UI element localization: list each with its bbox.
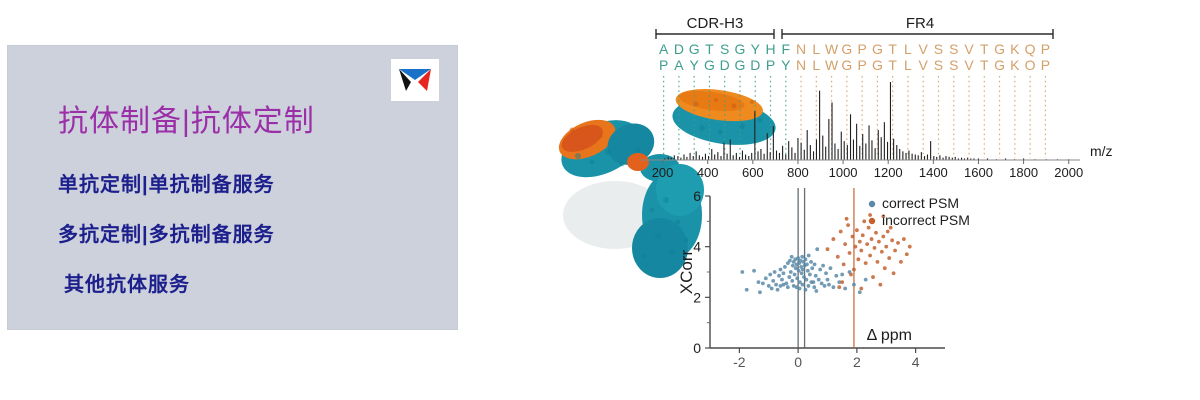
spectrum-xlabel: m/z: [1090, 143, 1113, 159]
spectrum-tick-label: 1000: [829, 165, 858, 180]
promo-link-other-services[interactable]: 其他抗体服务: [64, 268, 190, 297]
sequence-residue-top: P: [1041, 41, 1050, 57]
sequence-residue-top: G: [994, 41, 1005, 57]
scatter-point: [787, 275, 791, 279]
sequence-residue-top: S: [949, 41, 958, 57]
scatter-y-tick-label: 0: [693, 340, 701, 356]
scatter-point: [818, 268, 822, 272]
alignment-region-header: CDR-H3 FR4: [656, 15, 1053, 39]
sequence-residue-bottom: D: [720, 57, 730, 73]
scatter-point: [797, 269, 801, 273]
scatter-point: [804, 257, 808, 261]
spectrum-tick-label: 2000: [1054, 165, 1083, 180]
scatter-point: [861, 233, 865, 237]
scatter-point: [813, 263, 817, 267]
legend-label: correct PSM: [882, 195, 959, 211]
scatter-point: [852, 268, 856, 272]
scatter-point: [870, 237, 874, 241]
scatter-point: [767, 284, 771, 288]
sequence-residue-top: V: [964, 41, 974, 57]
sequence-residue-top: F: [782, 41, 791, 57]
sequence-residue-top: T: [888, 41, 897, 57]
spectrum-tick-label: 800: [787, 165, 809, 180]
scatter-point: [809, 280, 813, 284]
sequence-residue-top: T: [980, 41, 989, 57]
scatter-x-tick-label: 0: [794, 354, 802, 370]
spectrum-tick-label: 600: [742, 165, 764, 180]
legend-marker: [869, 201, 875, 207]
sequence-residue-bottom: W: [825, 57, 839, 73]
scatter-point: [804, 278, 808, 282]
scatter-point: [840, 280, 844, 284]
scatter-point: [795, 276, 799, 280]
region-label-cdr-h3: CDR-H3: [687, 15, 744, 32]
scatter-point: [880, 250, 884, 254]
scatter-point: [791, 264, 795, 268]
scatter-point: [859, 287, 863, 291]
spectrum-tick-label: 200: [652, 165, 674, 180]
scatter-point: [831, 237, 835, 241]
scatter-point: [806, 269, 810, 273]
scatter-point: [886, 230, 890, 234]
sequence-residue-top: D: [674, 41, 684, 57]
scatter-point: [862, 219, 866, 223]
scatter-point: [776, 288, 780, 292]
scatter-point: [752, 269, 756, 273]
sequence-residue-bottom: G: [704, 57, 715, 73]
sequence-residue-bottom: Y: [690, 57, 700, 73]
scatter-point: [824, 271, 828, 275]
scatter-point: [868, 254, 872, 258]
scatter-point: [852, 283, 856, 287]
scatter-point: [826, 247, 830, 251]
sequence-residue-bottom: L: [812, 57, 820, 73]
spectrum-tick-label: 1400: [919, 165, 948, 180]
scatter-point: [908, 245, 912, 249]
scatter-point: [858, 240, 862, 244]
sequence-residue-bottom: G: [841, 57, 852, 73]
promo-link-polyclonal[interactable]: 多抗定制|多抗制备服务: [58, 218, 275, 247]
sequence-residue-top: P: [857, 41, 866, 57]
scatter-point: [826, 278, 830, 282]
scatter-point: [804, 288, 808, 292]
scatter-point: [764, 276, 768, 280]
scatter-point: [788, 259, 792, 263]
scatter-point: [829, 266, 833, 270]
scatter-point: [843, 287, 847, 291]
scatter-point: [800, 255, 804, 259]
sequence-residue-bottom: O: [1025, 57, 1036, 73]
spectrum-tick-label: 1200: [874, 165, 903, 180]
scatter-point: [758, 290, 762, 294]
scatter-point: [820, 282, 824, 286]
scatter-point: [800, 271, 804, 275]
sequence-residue-top: K: [1010, 41, 1020, 57]
company-logo: [391, 59, 439, 101]
scatter-point: [874, 231, 878, 235]
scatter-point: [896, 241, 900, 245]
scatter-point: [884, 245, 888, 249]
scatter-point: [867, 226, 871, 230]
scatter-point: [794, 266, 798, 270]
scatter-point: [843, 242, 847, 246]
scatter-legend: correct PSMincorrect PSM: [869, 195, 970, 228]
spectrum-tick-label: 400: [697, 165, 719, 180]
sequence-residue-bottom: A: [674, 57, 684, 73]
scatter-point: [771, 279, 775, 283]
sequence-residue-top: A: [659, 41, 669, 57]
scatter-point: [887, 256, 891, 260]
scatter-point: [808, 273, 812, 277]
scatter-x-ticks: -2024: [733, 348, 920, 370]
scatter-point: [878, 283, 882, 287]
sequence-residue-bottom: P: [659, 57, 668, 73]
spectrum-tick-label: 1600: [964, 165, 993, 180]
logo-arrow-icon: [396, 64, 434, 96]
scatter-point: [779, 268, 783, 272]
sequence-residue-top: N: [796, 41, 806, 57]
sequence-residue-bottom: N: [796, 57, 806, 73]
scatter-point: [840, 273, 844, 277]
scatter-point: [849, 273, 853, 277]
scatter-point: [790, 279, 794, 283]
scatter-point: [864, 278, 868, 282]
promo-link-monoclonal[interactable]: 单抗定制|单抗制备服务: [58, 168, 275, 197]
sequence-residue-bottom: L: [904, 57, 912, 73]
sequence-residue-top: V: [919, 41, 929, 57]
scatter-point: [831, 285, 835, 289]
sequence-residue-top: T: [705, 41, 714, 57]
sequence-residue-bottom: S: [949, 57, 958, 73]
scatter-point: [899, 260, 903, 264]
scatter-point: [780, 278, 784, 282]
scatter-point: [902, 237, 906, 241]
scatter-point: [768, 273, 772, 277]
sequence-residue-top: G: [735, 41, 746, 57]
scatter-point: [827, 283, 831, 287]
scatter-point: [790, 255, 794, 259]
scatter-ylabel: XCorr: [677, 249, 696, 294]
scatter-point: [873, 246, 877, 250]
sequence-residue-top: L: [812, 41, 820, 57]
scatter-point: [801, 283, 805, 287]
scatter-point: [801, 268, 805, 272]
sequence-residue-top: S: [720, 41, 729, 57]
scatter-point: [839, 230, 843, 234]
sequence-residue-top: W: [825, 41, 839, 57]
scatter-point: [814, 289, 818, 293]
scatter-point: [812, 285, 816, 289]
scatter-point: [892, 271, 896, 275]
sequence-residue-bottom: K: [1010, 57, 1020, 73]
scatter-point: [798, 287, 802, 291]
spectrum-x-axis: 200400600800100012001400160018002000: [652, 160, 1083, 180]
scatter-point: [877, 240, 881, 244]
scatter-point: [905, 252, 909, 256]
scatter-x-tick-label: 2: [853, 354, 861, 370]
scatter-point: [807, 284, 811, 288]
scatter-point: [782, 271, 786, 275]
scatter-point: [823, 284, 827, 288]
sequence-residue-bottom: P: [857, 57, 866, 73]
scatter-point: [789, 270, 793, 274]
sequence-residue-top: G: [689, 41, 700, 57]
legend-marker: [869, 218, 875, 224]
sequence-residue-top: S: [934, 41, 943, 57]
sequence-residue-bottom: T: [888, 57, 897, 73]
scatter-point: [871, 275, 875, 279]
scatter-point: [810, 266, 814, 270]
sequence-residue-bottom: Y: [781, 57, 791, 73]
scatter-x-tick-label: -2: [733, 354, 746, 370]
region-label-fr4: FR4: [906, 15, 934, 32]
scatter-point: [805, 263, 809, 267]
scatter-threshold-lines: [798, 188, 854, 348]
scatter-point: [817, 278, 821, 282]
antibody-3d-structure: [550, 84, 780, 278]
scatter-point: [783, 265, 787, 269]
scatter-point: [814, 274, 818, 278]
scatter-point: [837, 285, 841, 289]
scatter-point: [842, 263, 846, 267]
scatter-point: [845, 217, 849, 221]
scatter-point: [757, 280, 761, 284]
scatter-point: [854, 245, 858, 249]
scatter-point: [848, 251, 852, 255]
sequence-residue-bottom: V: [964, 57, 974, 73]
sequence-residue-bottom: V: [919, 57, 929, 73]
scatter-point: [881, 235, 885, 239]
scatter-point: [851, 235, 855, 239]
scatter-point: [774, 283, 778, 287]
scatter-point: [834, 274, 838, 278]
scatter-point: [890, 238, 894, 242]
sequence-residue-bottom: P: [766, 57, 775, 73]
sequence-residue-top: G: [841, 41, 852, 57]
figure-canvas: CDR-H3 FR4 APDAGYTGSDGGYDHPFYNNLLWWGGPPG…: [520, 0, 1200, 400]
scatter-point: [773, 270, 777, 274]
sequence-residue-top: H: [765, 41, 775, 57]
scatter-point: [793, 273, 797, 277]
sequence-residue-bottom: T: [980, 57, 989, 73]
scatter-point: [865, 242, 869, 246]
scatter-y-tick-label: 6: [693, 188, 701, 204]
scatter-point: [868, 213, 872, 217]
sequence-residue-bottom: S: [934, 57, 943, 73]
scatter-point: [745, 288, 749, 292]
antibody-sequencing-figure: CDR-H3 FR4 APDAGYTGSDGGYDHPFYNNLLWWGGPPG…: [520, 0, 1200, 400]
scatter-point: [786, 285, 790, 289]
xcorr-scatter-chart: 0246 -2024 XCorr Δ ppm correct PSMincorr…: [677, 188, 970, 370]
scatter-point: [809, 260, 813, 264]
scatter-point: [855, 228, 859, 232]
sequence-residue-bottom: P: [1041, 57, 1050, 73]
scatter-point: [792, 284, 796, 288]
scatter-point: [893, 249, 897, 253]
sequence-residue-bottom: G: [872, 57, 883, 73]
scatter-point: [876, 260, 880, 264]
scatter-point: [858, 290, 862, 294]
scatter-point: [777, 274, 781, 278]
spectrum-tick-label: 1800: [1009, 165, 1038, 180]
sequence-residue-top: G: [872, 41, 883, 57]
scatter-point: [761, 282, 765, 286]
scatter-point: [859, 249, 863, 253]
scatter-point: [864, 261, 868, 265]
promo-panel: 抗体制备|抗体定制 单抗定制|单抗制备服务 多抗定制|多抗制备服务 其他抗体服务: [8, 46, 457, 329]
scatter-point: [815, 247, 819, 251]
sequence-residue-top: Y: [751, 41, 761, 57]
sequence-residue-bottom: G: [994, 57, 1005, 73]
legend-label: incorrect PSM: [882, 212, 970, 228]
page-title: 抗体制备|抗体定制: [58, 96, 315, 140]
sequence-residue-bottom: D: [750, 57, 760, 73]
sequence-residue-top: Q: [1025, 41, 1036, 57]
scatter-xlabel: Δ ppm: [867, 327, 912, 344]
scatter-point: [883, 266, 887, 270]
scatter-point: [856, 257, 860, 261]
scatter-point: [807, 254, 811, 258]
scatter-point: [836, 255, 840, 259]
scatter-point: [846, 223, 850, 227]
scatter-point: [821, 264, 825, 268]
scatter-point: [779, 284, 783, 288]
sequence-residue-bottom: G: [735, 57, 746, 73]
scatter-x-tick-label: 4: [912, 354, 920, 370]
sequence-residue-top: L: [904, 41, 912, 57]
scatter-point: [770, 287, 774, 291]
scatter-point: [740, 270, 744, 274]
